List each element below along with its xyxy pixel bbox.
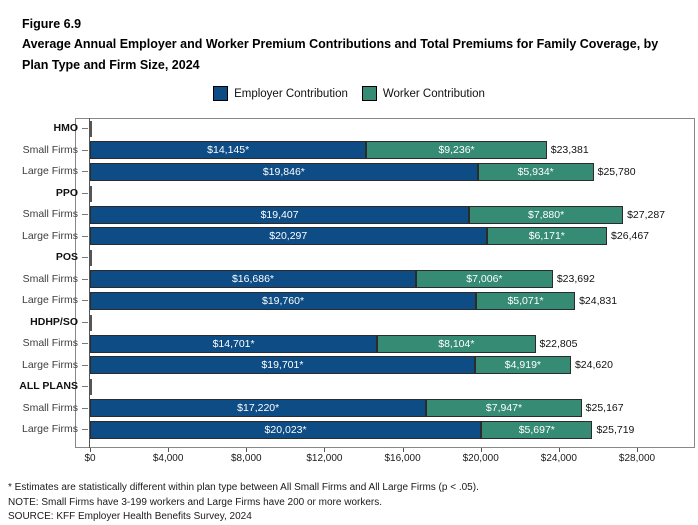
chart-bar-row[interactable]: Small Firms$14,145*$9,236*$23,381 (0, 140, 698, 162)
group-label: ALL PLANS (4, 376, 78, 398)
y-axis-tick (82, 171, 88, 172)
group-label: PPO (4, 183, 78, 205)
group-label: POS (4, 247, 78, 269)
group-divider (90, 186, 92, 202)
row-label: Large Firms (4, 226, 78, 248)
row-label: Large Firms (4, 290, 78, 312)
group-label: HDHP/SO (4, 312, 78, 334)
bar-segment-employer[interactable]: $17,220* (90, 399, 426, 417)
chart-footnotes: * Estimates are statistically different … (8, 481, 692, 525)
bar-segment-employer[interactable]: $19,760* (90, 292, 476, 310)
y-axis-tick (82, 408, 88, 409)
chart-bar-row[interactable]: Small Firms$19,407$7,880*$27,287 (0, 204, 698, 226)
bar-total-label: $27,287 (623, 206, 665, 224)
legend-item-label: Worker Contribution (383, 88, 485, 100)
bar-segment-employer[interactable]: $16,686* (90, 270, 416, 288)
y-axis-tick (82, 365, 88, 366)
bar-total-label: $24,831 (575, 292, 617, 310)
legend-swatch-icon (213, 86, 228, 101)
bar-value-label: $5,071* (507, 295, 543, 307)
bar-total-label: $24,620 (571, 356, 613, 374)
stacked-bar[interactable]: $14,145*$9,236*$23,381 (90, 141, 547, 159)
y-axis-tick (82, 236, 88, 237)
x-axis-tick (481, 448, 482, 452)
x-axis-tick (324, 448, 325, 452)
x-axis-tick (246, 448, 247, 452)
group-divider (90, 379, 92, 395)
bar-segment-worker[interactable]: $7,947* (426, 399, 581, 417)
bar-segment-worker[interactable]: $5,071* (476, 292, 575, 310)
x-axis-tick-label: $12,000 (306, 453, 342, 464)
page-title: Average Annual Employer and Worker Premi… (22, 34, 672, 76)
legend-item: Worker Contribution (362, 86, 485, 101)
chart-bar-row[interactable]: Large Firms$19,701*$4,919*$24,620 (0, 355, 698, 377)
bar-value-label: $5,697* (519, 424, 555, 436)
bar-segment-worker[interactable]: $5,697* (481, 421, 592, 439)
y-axis-tick (82, 128, 88, 129)
bar-segment-employer[interactable]: $14,145* (90, 141, 366, 159)
legend-item-label: Employer Contribution (234, 88, 348, 100)
chart-bar-row[interactable]: Large Firms$19,760*$5,071*$24,831 (0, 290, 698, 312)
x-axis-tick (637, 448, 638, 452)
group-divider (90, 121, 92, 137)
chart-bar-row[interactable]: Small Firms$17,220*$7,947*$25,167 (0, 398, 698, 420)
bar-value-label: $9,236* (438, 144, 474, 156)
footnote-line: NOTE: Small Firms have 3-199 workers and… (8, 496, 692, 511)
group-divider (90, 315, 92, 331)
y-axis-tick (82, 322, 88, 323)
bar-segment-employer[interactable]: $20,297 (90, 227, 487, 245)
stacked-bar[interactable]: $20,297$6,171*$26,467 (90, 227, 607, 245)
bar-total-label: $23,381 (547, 141, 589, 159)
bar-segment-worker[interactable]: $7,880* (469, 206, 623, 224)
figure-number: Figure 6.9 (22, 14, 682, 34)
bar-segment-worker[interactable]: $7,006* (416, 270, 553, 288)
y-axis-tick (82, 343, 88, 344)
bar-segment-employer[interactable]: $19,701* (90, 356, 475, 374)
bar-segment-employer[interactable]: $19,846* (90, 163, 478, 181)
stacked-bar[interactable]: $19,407$7,880*$27,287 (90, 206, 623, 224)
bar-value-label: $7,947* (486, 402, 522, 414)
bar-value-label: $19,701* (261, 359, 303, 371)
chart-group-row: POS (0, 247, 698, 269)
y-axis-tick (82, 214, 88, 215)
chart-bar-row[interactable]: Small Firms$16,686*$7,006*$23,692 (0, 269, 698, 291)
row-label: Large Firms (4, 419, 78, 441)
stacked-bar[interactable]: $16,686*$7,006*$23,692 (90, 270, 553, 288)
bar-value-label: $4,919* (505, 359, 541, 371)
legend-swatch-icon (362, 86, 377, 101)
bar-value-label: $17,220* (237, 402, 279, 414)
x-axis-tick (90, 448, 91, 452)
bar-value-label: $19,407 (261, 209, 299, 221)
x-axis-tick (168, 448, 169, 452)
row-label: Large Firms (4, 355, 78, 377)
bar-value-label: $19,846* (263, 166, 305, 178)
row-label: Small Firms (4, 398, 78, 420)
x-axis: $0$4,000$8,000$12,000$16,000$20,000$24,0… (75, 448, 695, 468)
bar-segment-employer[interactable]: $20,023* (90, 421, 481, 439)
x-axis-tick-label: $0 (84, 453, 95, 464)
y-axis-tick (82, 300, 88, 301)
bar-value-label: $6,171* (529, 230, 565, 242)
chart-bar-row[interactable]: Large Firms$19,846*$5,934*$25,780 (0, 161, 698, 183)
bar-segment-worker[interactable]: $8,104* (377, 335, 535, 353)
bar-value-label: $19,760* (262, 295, 304, 307)
chart-group-row: PPO (0, 183, 698, 205)
chart-header: Figure 6.9 Average Annual Employer and W… (22, 14, 682, 76)
footnote-line: SOURCE: KFF Employer Health Benefits Sur… (8, 510, 692, 525)
x-axis-tick-label: $16,000 (384, 453, 420, 464)
x-axis-tick-label: $20,000 (463, 453, 499, 464)
bar-value-label: $5,934* (518, 166, 554, 178)
stacked-bar[interactable]: $17,220*$7,947*$25,167 (90, 399, 582, 417)
stacked-bar[interactable]: $19,701*$4,919*$24,620 (90, 356, 571, 374)
stacked-bar[interactable]: $19,846*$5,934*$25,780 (90, 163, 594, 181)
row-label: Small Firms (4, 269, 78, 291)
x-axis-tick-label: $4,000 (153, 453, 184, 464)
bar-total-label: $23,692 (553, 270, 595, 288)
row-label: Small Firms (4, 204, 78, 226)
stacked-bar[interactable]: $20,023*$5,697*$25,719 (90, 421, 592, 439)
bar-value-label: $14,701* (213, 338, 255, 350)
bar-value-label: $7,880* (528, 209, 564, 221)
bar-segment-employer[interactable]: $19,407 (90, 206, 469, 224)
legend-item: Employer Contribution (213, 86, 348, 101)
stacked-bar[interactable]: $19,760*$5,071*$24,831 (90, 292, 575, 310)
bar-value-label: $20,023* (265, 424, 307, 436)
group-label: HMO (4, 118, 78, 140)
y-axis-tick (82, 150, 88, 151)
row-label: Large Firms (4, 161, 78, 183)
bar-value-label: $16,686* (232, 273, 274, 285)
x-axis-tick-label: $8,000 (231, 453, 262, 464)
row-label: Small Firms (4, 140, 78, 162)
bar-total-label: $22,805 (536, 335, 578, 353)
stacked-bar[interactable]: $14,701*$8,104*$22,805 (90, 335, 536, 353)
bar-total-label: $26,467 (607, 227, 649, 245)
group-divider (90, 250, 92, 266)
bar-segment-worker[interactable]: $9,236* (366, 141, 546, 159)
chart-bar-row[interactable]: Small Firms$14,701*$8,104*$22,805 (0, 333, 698, 355)
chart-group-row: HMO (0, 118, 698, 140)
footnote-line: * Estimates are statistically different … (8, 481, 692, 496)
bar-segment-worker[interactable]: $6,171* (487, 227, 608, 245)
bar-value-label: $7,006* (466, 273, 502, 285)
y-axis-tick (82, 429, 88, 430)
bar-total-label: $25,167 (582, 399, 624, 417)
bar-segment-worker[interactable]: $4,919* (475, 356, 571, 374)
bar-value-label: $20,297 (269, 230, 307, 242)
chart-legend: Employer ContributionWorker Contribution (0, 86, 698, 101)
y-axis-tick (82, 386, 88, 387)
x-axis-tick-label: $28,000 (619, 453, 655, 464)
chart-bar-row[interactable]: Large Firms$20,297$6,171*$26,467 (0, 226, 698, 248)
bar-total-label: $25,780 (594, 163, 636, 181)
chart-rows: HMOSmall Firms$14,145*$9,236*$23,381Larg… (0, 118, 698, 441)
y-axis-tick (82, 279, 88, 280)
bar-value-label: $14,145* (207, 144, 249, 156)
row-label: Small Firms (4, 333, 78, 355)
x-axis-tick-label: $24,000 (541, 453, 577, 464)
chart-bar-row[interactable]: Large Firms$20,023*$5,697*$25,719 (0, 419, 698, 441)
bar-total-label: $25,719 (592, 421, 634, 439)
chart-group-row: ALL PLANS (0, 376, 698, 398)
bar-segment-employer[interactable]: $14,701* (90, 335, 377, 353)
bar-segment-worker[interactable]: $5,934* (478, 163, 594, 181)
chart-group-row: HDHP/SO (0, 312, 698, 334)
y-axis-tick (82, 193, 88, 194)
y-axis-tick (82, 257, 88, 258)
x-axis-tick (403, 448, 404, 452)
x-axis-tick (559, 448, 560, 452)
bar-value-label: $8,104* (438, 338, 474, 350)
